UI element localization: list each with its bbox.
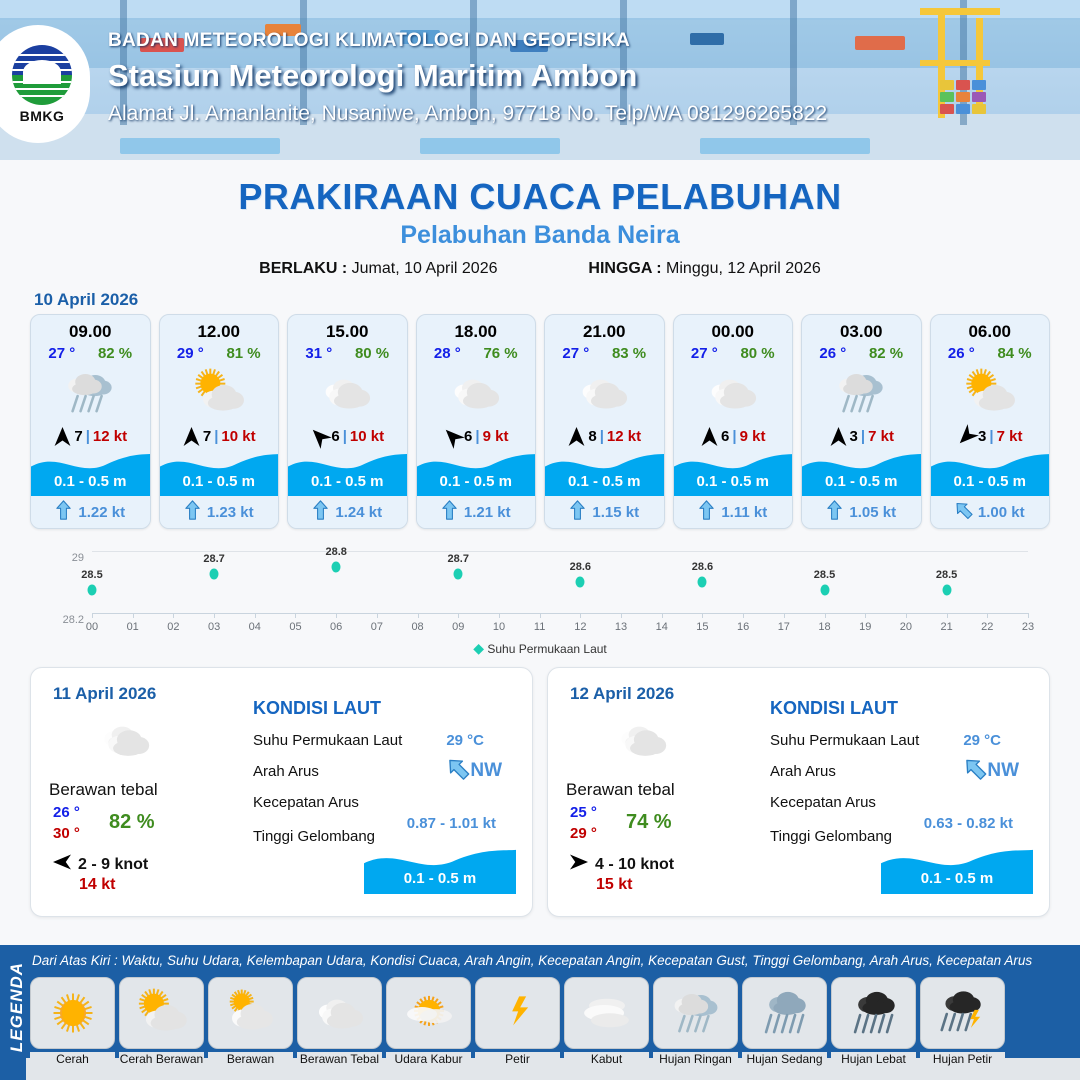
wind-direction-arrow-icon <box>567 426 585 446</box>
card-gust: 7 kt <box>997 428 1023 445</box>
card-current-speed: 1.05 kt <box>849 504 896 521</box>
crane-icon <box>890 8 1020 128</box>
chart-point-label: 28.5 <box>81 569 102 581</box>
hourly-card: 09.00 27 ° 82 % 7 | 12 kt 0.1 - 0.5 m <box>30 314 151 529</box>
chart-x-tick-label: 01 <box>127 621 139 633</box>
wind-direction-arrow-icon <box>182 426 200 446</box>
chart-x-tick <box>580 613 581 618</box>
legend-item: Hujan Sedang <box>742 977 827 1066</box>
legend-item: Udara Kabur <box>386 977 471 1066</box>
row-value-current-speed: 0.87 - 1.01 kt <box>407 815 496 832</box>
daily-forecast-row: 11 April 2026 Berawan tebal 26 ° 30 ° 82… <box>0 661 1080 917</box>
legend-header-text: Dari Atas Kiri : Waktu, Suhu Udara, Kele… <box>32 953 1076 968</box>
chart-x-tick <box>621 613 622 618</box>
hourly-card: 12.00 29 ° 81 % 7 | 10 kt 0.1 - 0.5 m 1.… <box>159 314 280 529</box>
card-wave-height: 0.1 - 0.5 m <box>31 473 150 490</box>
weather-icon-cerah-berawan <box>931 362 1050 424</box>
card-wave-band: 0.1 - 0.5 m <box>674 450 793 496</box>
chart-legend: ◆ Suhu Permukaan Laut <box>30 640 1050 657</box>
legend-item-label: Udara Kabur <box>386 1052 471 1066</box>
chart-x-tick-label: 21 <box>940 621 952 633</box>
daily-current-direction-arrow-icon <box>447 756 469 786</box>
card-time: 21.00 <box>545 315 664 342</box>
legend-item-label: Cerah Berawan <box>119 1052 204 1066</box>
chart-x-tick-label: 20 <box>900 621 912 633</box>
chart-x-tick <box>255 613 256 618</box>
legend-item-label: Hujan Lebat <box>831 1052 916 1066</box>
chart-point-label: 28.6 <box>692 561 713 573</box>
card-time: 12.00 <box>160 315 279 342</box>
legend-item-label: Cerah <box>30 1052 115 1066</box>
card-gust: 10 kt <box>221 428 255 445</box>
chart-data-point <box>332 561 341 572</box>
daily-condition: Berawan tebal <box>566 780 675 800</box>
legend-item: Kabut <box>564 977 649 1066</box>
chart-legend-marker-icon: ◆ <box>473 640 484 656</box>
chart-x-tick <box>377 613 378 618</box>
chart-x-tick <box>906 613 907 618</box>
wind-direction-arrow-icon <box>443 426 461 446</box>
chart-x-tick-label: 06 <box>330 621 342 633</box>
daily-weather-icon-berawan-tebal <box>93 712 159 773</box>
row-value-wave: 0.1 - 0.5 m <box>881 870 1033 887</box>
chart-x-tick-label: 02 <box>167 621 179 633</box>
legend-item-label: Hujan Sedang <box>742 1052 827 1066</box>
title-section: PRAKIRAAN CUACA PELABUHAN Pelabuhan Band… <box>0 160 1080 278</box>
legend-icon-udara-kabur <box>386 977 471 1049</box>
chart-x-tick <box>662 613 663 618</box>
row-label-current-direction: Arah Arus <box>253 763 319 780</box>
legend-icon-hujan-petir <box>920 977 1005 1049</box>
legend-icon-hujan-sedang <box>742 977 827 1049</box>
card-wind-speed: 6 <box>721 428 729 445</box>
daily-wind-range: 4 - 10 knot <box>595 856 674 874</box>
card-temperature: 27 ° <box>562 345 589 362</box>
wind-direction-arrow-icon <box>310 426 328 446</box>
card-temperature: 31 ° <box>305 345 332 362</box>
weather-icon-berawan-tebal <box>288 362 407 424</box>
card-temperature: 27 ° <box>691 345 718 362</box>
card-wind-speed: 7 <box>74 428 82 445</box>
chart-data-point <box>454 569 463 580</box>
chart-data-point <box>576 577 585 588</box>
row-label-sst: Suhu Permukaan Laut <box>770 732 919 749</box>
card-wave-band: 0.1 - 0.5 m <box>931 450 1050 496</box>
card-wave-height: 0.1 - 0.5 m <box>545 473 664 490</box>
validity-dates: BERLAKU : Jumat, 10 April 2026 HINGGA : … <box>0 260 1080 278</box>
daily-condition: Berawan tebal <box>49 780 158 800</box>
legend-item: Hujan Ringan <box>653 977 738 1066</box>
hingga-label: HINGGA : <box>588 260 661 277</box>
chart-x-tick-label: 09 <box>452 621 464 633</box>
chart-gridline <box>92 551 1028 552</box>
page-subtitle: Pelabuhan Banda Neira <box>0 221 1080 250</box>
sst-chart: 2928.228.528.728.828.728.628.628.528.5 0… <box>30 543 1050 661</box>
legend-icon-petir <box>475 977 560 1049</box>
card-wave-height: 0.1 - 0.5 m <box>931 473 1050 490</box>
chart-x-tick <box>418 613 419 618</box>
chart-x-tick-label: 13 <box>615 621 627 633</box>
legend-item-label: Hujan Petir <box>920 1052 1005 1066</box>
weather-icon-hujan-ringan <box>802 362 921 424</box>
weather-icon-cerah-berawan <box>160 362 279 424</box>
current-direction-arrow-icon <box>955 500 972 525</box>
chart-x-tick-label: 00 <box>86 621 98 633</box>
card-gust: 9 kt <box>740 428 766 445</box>
legend-icon-cerah-berawan <box>119 977 204 1049</box>
chart-x-tick <box>540 613 541 618</box>
card-humidity: 84 % <box>997 345 1031 362</box>
legend-icon-berawan-tebal <box>297 977 382 1049</box>
chart-x-tick-label: 19 <box>859 621 871 633</box>
card-time: 15.00 <box>288 315 407 342</box>
weather-icon-hujan-ringan <box>31 362 150 424</box>
card-separator: | <box>600 428 604 445</box>
current-direction-arrow-icon <box>826 500 843 525</box>
legend-item: Berawan <box>208 977 293 1066</box>
page-header: BMKG BADAN METEOROLOGI KLIMATOLOGI DAN G… <box>0 0 1080 160</box>
row-label-sst: Suhu Permukaan Laut <box>253 732 402 749</box>
card-wave-height: 0.1 - 0.5 m <box>288 473 407 490</box>
daily-wave-graphic: 0.1 - 0.5 m <box>364 846 516 894</box>
hourly-forecast-row: 09.00 27 ° 82 % 7 | 12 kt 0.1 - 0.5 m <box>0 314 1080 529</box>
card-current-speed: 1.23 kt <box>207 504 254 521</box>
chart-data-point <box>942 584 951 595</box>
row-value-current-speed: 0.63 - 0.82 kt <box>924 815 1013 832</box>
card-wave-height: 0.1 - 0.5 m <box>802 473 921 490</box>
card-separator: | <box>214 428 218 445</box>
legend-item-label: Berawan <box>208 1052 293 1066</box>
wind-direction-arrow-icon <box>829 426 847 446</box>
agency-name: BADAN METEOROLOGI KLIMATOLOGI DAN GEOFIS… <box>108 30 827 52</box>
card-time: 09.00 <box>31 315 150 342</box>
station-name: Stasiun Meteorologi Maritim Ambon <box>108 58 827 94</box>
legend-item: Cerah <box>30 977 115 1066</box>
card-wave-band: 0.1 - 0.5 m <box>288 450 407 496</box>
chart-x-tick-label: 16 <box>737 621 749 633</box>
current-direction-arrow-icon <box>441 500 458 525</box>
hourly-card: 06.00 26 ° 84 % 3 | 7 kt 0.1 - 0.5 m 1.0… <box>930 314 1051 529</box>
daily-humidity: 74 % <box>626 811 672 834</box>
card-temperature: 26 ° <box>948 345 975 362</box>
legend-icon-berawan <box>208 977 293 1049</box>
hourly-date-label: 10 April 2026 <box>34 290 1080 310</box>
card-separator: | <box>732 428 736 445</box>
daily-weather-icon-berawan-tebal <box>610 712 676 773</box>
bmkg-logo-text: BMKG <box>20 108 65 124</box>
card-separator: | <box>343 428 347 445</box>
row-value-wave: 0.1 - 0.5 m <box>364 870 516 887</box>
weather-icon-berawan-tebal <box>417 362 536 424</box>
chart-data-point <box>698 577 707 588</box>
chart-x-tick-label: 07 <box>371 621 383 633</box>
chart-x-tick-label: 17 <box>778 621 790 633</box>
card-temperature: 26 ° <box>819 345 846 362</box>
card-temperature: 29 ° <box>177 345 204 362</box>
chart-data-point <box>210 569 219 580</box>
chart-x-tick-label: 12 <box>574 621 586 633</box>
card-wind-speed: 7 <box>203 428 211 445</box>
card-wave-band: 0.1 - 0.5 m <box>417 450 536 496</box>
hourly-card: 00.00 27 ° 80 % 6 | 9 kt 0.1 - 0.5 m <box>673 314 794 529</box>
chart-x-tick <box>92 613 93 618</box>
card-humidity: 83 % <box>612 345 646 362</box>
current-direction-arrow-icon <box>55 500 72 525</box>
chart-x-tick <box>458 613 459 618</box>
card-temperature: 28 ° <box>434 345 461 362</box>
card-separator: | <box>989 428 993 445</box>
card-current-speed: 1.21 kt <box>464 504 511 521</box>
chart-x-tick <box>173 613 174 618</box>
chart-x-tick-label: 14 <box>656 621 668 633</box>
chart-x-tick <box>947 613 948 618</box>
hourly-card: 15.00 31 ° 80 % 6 | 10 kt 0.1 - 0.5 m <box>287 314 408 529</box>
card-time: 03.00 <box>802 315 921 342</box>
bmkg-logo: BMKG <box>0 25 90 143</box>
chart-x-tick-label: 10 <box>493 621 505 633</box>
chart-x-tick-label: 15 <box>696 621 708 633</box>
chart-point-label: 28.5 <box>814 569 835 581</box>
legend-item: Hujan Petir <box>920 977 1005 1066</box>
daily-temp-max: 30 ° <box>53 825 80 842</box>
chart-x-tick <box>987 613 988 618</box>
card-gust: 7 kt <box>868 428 894 445</box>
daily-forecast-panel: 12 April 2026 Berawan tebal 25 ° 29 ° 74… <box>547 667 1050 917</box>
card-current-speed: 1.24 kt <box>335 504 382 521</box>
legend-side-label: LEGENDA <box>7 952 27 1062</box>
hourly-card: 21.00 27 ° 83 % 8 | 12 kt 0.1 - 0.5 m <box>544 314 665 529</box>
legend-side-bar: LEGENDA <box>0 945 26 1080</box>
card-humidity: 80 % <box>740 345 774 362</box>
row-label-wave: Tinggi Gelombang <box>253 828 375 845</box>
legend-icon-hujan-lebat <box>831 977 916 1049</box>
daily-current-direction-arrow-icon <box>964 756 986 786</box>
card-separator: | <box>475 428 479 445</box>
daily-forecast-panel: 11 April 2026 Berawan tebal 26 ° 30 ° 82… <box>30 667 533 917</box>
card-wave-height: 0.1 - 0.5 m <box>417 473 536 490</box>
weather-icon-berawan-tebal <box>674 362 793 424</box>
chart-point-label: 28.7 <box>203 553 224 565</box>
legend-items: Cerah Cerah Berawan Berawan Berawan Teba… <box>30 977 1078 1066</box>
card-gust: 10 kt <box>350 428 384 445</box>
row-value-current-direction: NW <box>987 760 1019 782</box>
daily-wave-graphic: 0.1 - 0.5 m <box>881 846 1033 894</box>
card-wave-band: 0.1 - 0.5 m <box>31 450 150 496</box>
legend-item: Cerah Berawan <box>119 977 204 1066</box>
current-direction-arrow-icon <box>698 500 715 525</box>
berlaku-value: Jumat, 10 April 2026 <box>352 260 498 277</box>
card-wave-band: 0.1 - 0.5 m <box>545 450 664 496</box>
chart-point-label: 28.7 <box>448 553 469 565</box>
card-humidity: 81 % <box>226 345 260 362</box>
chart-x-tick <box>743 613 744 618</box>
hourly-card: 18.00 28 ° 76 % 6 | 9 kt 0.1 - 0.5 m <box>416 314 537 529</box>
weather-icon-berawan-tebal <box>545 362 664 424</box>
chart-x-tick-label: 18 <box>818 621 830 633</box>
legend-item-label: Petir <box>475 1052 560 1066</box>
chart-x-tick-label: 23 <box>1022 621 1034 633</box>
daily-wind-direction-arrow-icon <box>53 852 71 877</box>
row-label-current-speed: Kecepatan Arus <box>770 794 876 811</box>
chart-x-tick <box>336 613 337 618</box>
row-value-current-direction: NW <box>470 760 502 782</box>
legend-item: Petir <box>475 977 560 1066</box>
daily-humidity: 82 % <box>109 811 155 834</box>
bmkg-logo-emblem <box>12 45 72 105</box>
card-humidity: 80 % <box>355 345 389 362</box>
daily-date: 11 April 2026 <box>53 684 156 704</box>
daily-temp-min: 26 ° <box>53 804 80 821</box>
card-current-speed: 1.15 kt <box>592 504 639 521</box>
row-label-wave: Tinggi Gelombang <box>770 828 892 845</box>
sea-condition-title: KONDISI LAUT <box>253 698 381 719</box>
card-time: 18.00 <box>417 315 536 342</box>
page-title: PRAKIRAAN CUACA PELABUHAN <box>0 176 1080 218</box>
wind-direction-arrow-icon <box>53 426 71 446</box>
row-value-sst: 29 °C <box>446 732 484 749</box>
berlaku-label: BERLAKU : <box>259 260 347 277</box>
chart-x-tick <box>865 613 866 618</box>
header-text-block: BADAN METEOROLOGI KLIMATOLOGI DAN GEOFIS… <box>108 30 827 126</box>
row-label-current-direction: Arah Arus <box>770 763 836 780</box>
chart-x-tick-label: 05 <box>289 621 301 633</box>
daily-temp-min: 25 ° <box>570 804 597 821</box>
legend-item-label: Kabut <box>564 1052 649 1066</box>
card-wave-height: 0.1 - 0.5 m <box>674 473 793 490</box>
row-label-current-speed: Kecepatan Arus <box>253 794 359 811</box>
card-wind-speed: 8 <box>588 428 596 445</box>
sea-condition-title: KONDISI LAUT <box>770 698 898 719</box>
card-current-speed: 1.11 kt <box>721 504 767 521</box>
chart-x-tick <box>133 613 134 618</box>
chart-x-tick <box>1028 613 1029 618</box>
card-humidity: 82 % <box>98 345 132 362</box>
chart-x-tick-label: 11 <box>534 621 545 633</box>
legend-icon-hujan-ringan <box>653 977 738 1049</box>
card-gust: 12 kt <box>607 428 641 445</box>
daily-wind-range: 2 - 9 knot <box>78 856 148 874</box>
chart-x-tick <box>702 613 703 618</box>
current-direction-arrow-icon <box>312 500 329 525</box>
card-separator: | <box>86 428 90 445</box>
legend-icon-kabut <box>564 977 649 1049</box>
legend-section: LEGENDA Dari Atas Kiri : Waktu, Suhu Uda… <box>0 945 1080 1080</box>
legend-item: Hujan Lebat <box>831 977 916 1066</box>
card-current-speed: 1.22 kt <box>78 504 125 521</box>
legend-icon-cerah <box>30 977 115 1049</box>
hourly-card: 03.00 26 ° 82 % 3 | 7 kt 0.1 - 0.5 m <box>801 314 922 529</box>
legend-item-label: Hujan Ringan <box>653 1052 738 1066</box>
daily-gust: 15 kt <box>596 876 632 894</box>
chart-x-tick <box>825 613 826 618</box>
card-wave-height: 0.1 - 0.5 m <box>160 473 279 490</box>
card-humidity: 76 % <box>483 345 517 362</box>
card-gust: 9 kt <box>483 428 509 445</box>
card-time: 00.00 <box>674 315 793 342</box>
card-humidity: 82 % <box>869 345 903 362</box>
chart-x-tick <box>784 613 785 618</box>
current-direction-arrow-icon <box>184 500 201 525</box>
chart-x-tick <box>214 613 215 618</box>
chart-x-tick <box>295 613 296 618</box>
chart-point-label: 28.6 <box>570 561 591 573</box>
card-wave-band: 0.1 - 0.5 m <box>160 450 279 496</box>
current-direction-arrow-icon <box>569 500 586 525</box>
chart-x-tick-label: 04 <box>249 621 261 633</box>
card-gust: 12 kt <box>93 428 127 445</box>
chart-x-axis: 0001020304050607080910111213141516171819… <box>92 613 1028 614</box>
chart-data-point <box>820 584 829 595</box>
daily-date: 12 April 2026 <box>570 684 674 704</box>
row-value-sst: 29 °C <box>963 732 1001 749</box>
chart-x-tick-label: 03 <box>208 621 220 633</box>
chart-x-tick-label: 22 <box>981 621 993 633</box>
wind-direction-arrow-icon <box>700 426 718 446</box>
wind-direction-arrow-icon <box>957 426 975 446</box>
card-temperature: 27 ° <box>48 345 75 362</box>
daily-temp-max: 29 ° <box>570 825 597 842</box>
chart-point-label: 28.5 <box>936 569 957 581</box>
chart-y-tick-label: 28.2 <box>30 614 84 626</box>
chart-data-point <box>88 584 97 595</box>
daily-wind-direction-arrow-icon <box>570 852 588 877</box>
legend-item-label: Berawan Tebal <box>297 1052 382 1066</box>
legend-item: Berawan Tebal <box>297 977 382 1066</box>
hingga-value: Minggu, 12 April 2026 <box>666 260 821 277</box>
station-contact: Alamat Jl. Amanlanite, Nusaniwe, Ambon, … <box>108 102 827 126</box>
card-current-speed: 1.00 kt <box>978 504 1025 521</box>
chart-legend-label: Suhu Permukaan Laut <box>487 642 606 656</box>
chart-x-tick-label: 08 <box>411 621 423 633</box>
card-wind-speed: 3 <box>850 428 858 445</box>
chart-plot-area: 2928.228.528.728.828.728.628.628.528.5 <box>92 551 1028 613</box>
card-wave-band: 0.1 - 0.5 m <box>802 450 921 496</box>
chart-point-label: 28.8 <box>325 546 346 558</box>
daily-gust: 14 kt <box>79 876 115 894</box>
card-separator: | <box>861 428 865 445</box>
chart-y-tick-label: 29 <box>30 552 84 564</box>
card-time: 06.00 <box>931 315 1050 342</box>
chart-x-tick <box>499 613 500 618</box>
